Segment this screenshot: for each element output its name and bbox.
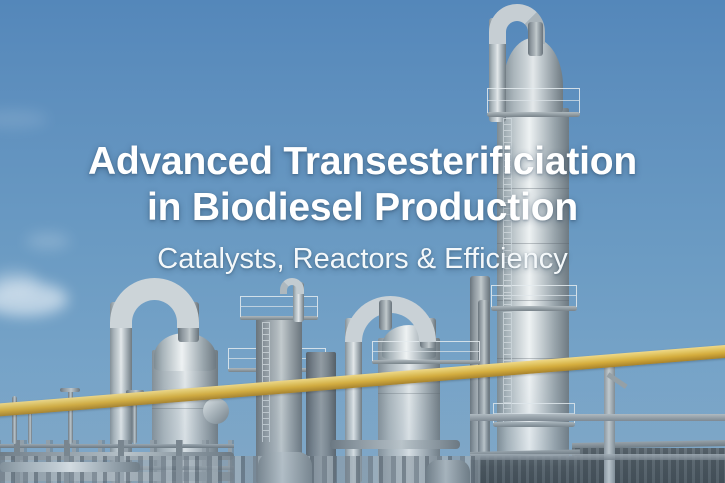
title-line-2: in Biodiesel Production [0, 185, 725, 231]
hero-banner: Advanced Transesterificiation in Biodies… [0, 0, 725, 483]
page-subtitle: Catalysts, Reactors & Efficiency [0, 242, 725, 276]
title-line-1: Advanced Transesterificiation [88, 140, 637, 183]
page-title: Advanced Transesterificiation in Biodies… [0, 139, 725, 231]
hero-text-overlay: Advanced Transesterificiation in Biodies… [0, 0, 725, 483]
